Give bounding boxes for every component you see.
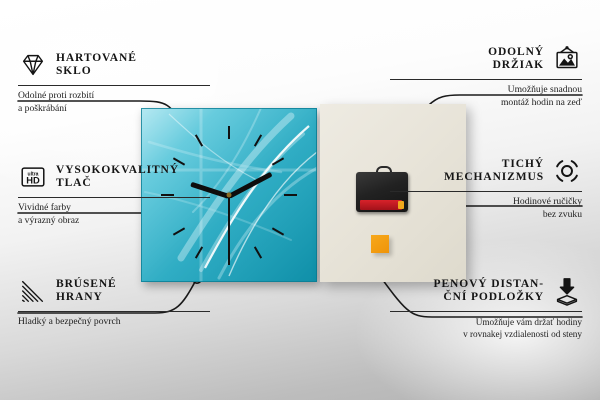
feature-divider <box>18 85 210 86</box>
feature-head: HARTOVANÉ SKLO <box>18 50 210 80</box>
feature-divider <box>390 191 582 192</box>
feature-subtitle-line1: Vividné farby <box>18 202 210 215</box>
feature-title-line1: PENOVÝ DISTAN- <box>434 278 544 291</box>
feature-subtitle-line1: Odolné proti rozbití <box>18 90 210 103</box>
feature-title-line1: VYSOKOKVALITNÝ <box>56 164 179 177</box>
feature-title: BRÚSENÉ HRANY <box>56 278 117 304</box>
feature-divider <box>390 79 582 80</box>
feature-head: TICHÝ MECHANIZMUS <box>390 156 582 186</box>
feature-title-line2: MECHANIZMUS <box>444 171 544 184</box>
feature-title: HARTOVANÉ SKLO <box>56 52 137 78</box>
feature-subtitle-line2: a výrazný obraz <box>18 215 210 228</box>
feature-title-line1: TICHÝ <box>444 158 544 171</box>
feature-divider <box>18 197 210 198</box>
feature-title-line1: HARTOVANÉ <box>56 52 137 65</box>
feature-title-line1: BRÚSENÉ <box>56 278 117 291</box>
feature-subtitle-line2: montáž hodin na zeď <box>390 97 582 110</box>
feature-title-line2: DRŽIAK <box>488 59 544 72</box>
feature-title-line2: SKLO <box>56 65 137 78</box>
feature-title: ODOLNÝ DRŽIAK <box>488 46 544 72</box>
clock-center-pivot <box>227 193 232 198</box>
feature-subtitle-line2: v rovnakej vzdialenosti od steny <box>390 328 582 340</box>
diamond-icon <box>18 50 48 80</box>
feature-title-line1: ODOLNÝ <box>488 46 544 59</box>
clock-tick <box>228 126 230 139</box>
feature-subtitle-line2: bez zvuku <box>390 209 582 222</box>
infographic-canvas: HARTOVANÉ SKLO Odolné proti rozbití a po… <box>0 0 600 400</box>
ultra-hd-icon: ultra HD <box>18 162 48 192</box>
feature-title-line2: ČNÍ PODLOŽKY <box>434 291 544 304</box>
feature-head: ODOLNÝ DRŽIAK <box>390 44 582 74</box>
feature-subtitle-line1: Umožňuje vám držať hodiny <box>390 316 582 328</box>
feature-title: TICHÝ MECHANIZMUS <box>444 158 544 184</box>
feature-divider <box>18 311 210 312</box>
ultra-hd-big-label: HD <box>26 176 40 186</box>
foam-spacer-pad <box>371 235 389 253</box>
feature-subtitle-line1: Hodinové ručičky <box>390 196 582 209</box>
feature-head: BRÚSENÉ HRANY <box>18 276 210 306</box>
feature-subtitle-line1: Umožňuje snadnou <box>390 84 582 97</box>
feature-divider <box>390 311 582 312</box>
clock-second-hand <box>228 194 230 256</box>
feature-tempered-glass: HARTOVANÉ SKLO Odolné proti rozbití a po… <box>18 50 210 116</box>
feature-title: VYSOKOKVALITNÝ TLAČ <box>56 164 179 190</box>
feature-head: ultra HD VYSOKOKVALITNÝ TLAČ <box>18 162 210 192</box>
feature-subtitle-line1: Hladký a bezpečný povrch <box>18 316 210 329</box>
brushed-edges-icon <box>18 276 48 306</box>
picture-frame-icon <box>552 44 582 74</box>
clock-tick <box>284 194 297 196</box>
feature-title: PENOVÝ DISTAN- ČNÍ PODLOŽKY <box>434 278 544 304</box>
feature-subtitle-line2: a poškrábání <box>18 103 210 116</box>
feature-title-line2: TLAČ <box>56 177 179 190</box>
feature-high-quality-print: ultra HD VYSOKOKVALITNÝ TLAČ Vividné far… <box>18 162 210 228</box>
feature-silent-mechanism: TICHÝ MECHANIZMUS Hodinové ručičky bez z… <box>390 156 582 222</box>
feature-foam-spacers: PENOVÝ DISTAN- ČNÍ PODLOŽKY Umožňuje vám… <box>390 276 582 341</box>
feature-ground-edges: BRÚSENÉ HRANY Hladký a bezpečný povrch <box>18 276 210 329</box>
feature-durable-hanger: ODOLNÝ DRŽIAK Umožňuje snadnou montáž ho… <box>390 44 582 110</box>
spacer-pad-icon <box>552 276 582 306</box>
feature-title-line2: HRANY <box>56 291 117 304</box>
gear-icon <box>552 156 582 186</box>
feature-head: PENOVÝ DISTAN- ČNÍ PODLOŽKY <box>390 276 582 306</box>
